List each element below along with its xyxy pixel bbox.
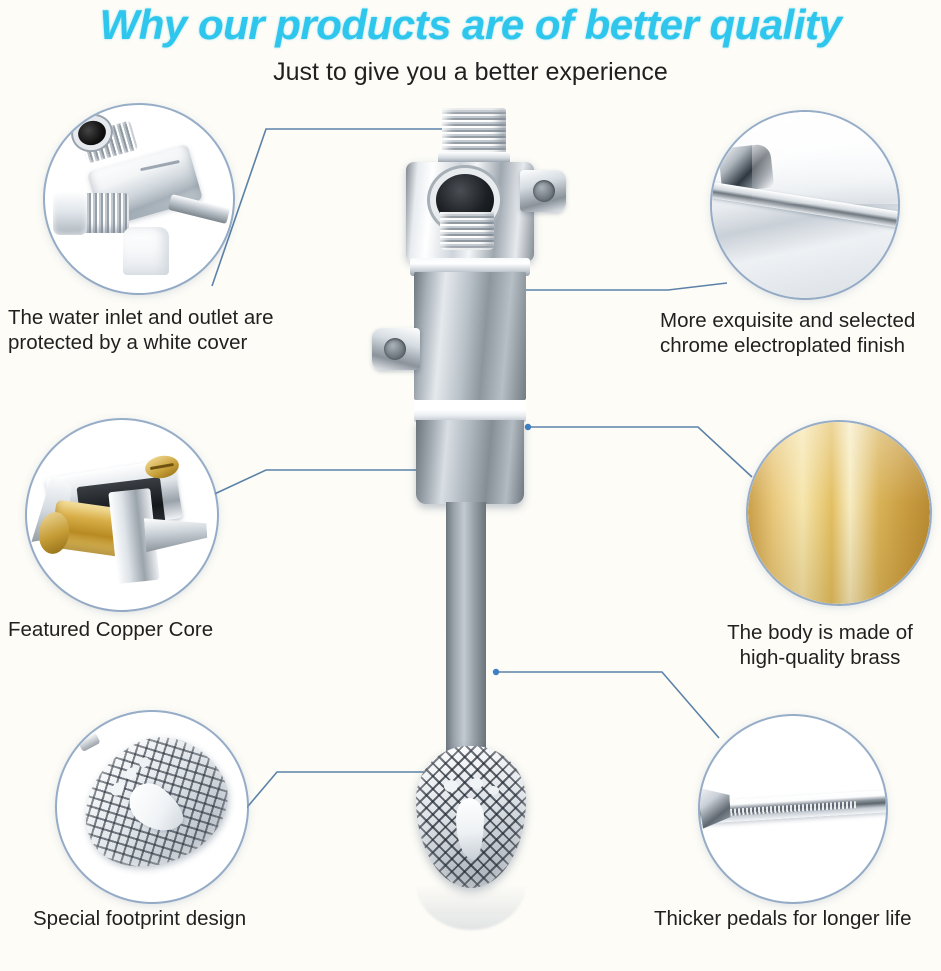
- white-protective-cover-shape: [123, 227, 169, 275]
- caption-line-2: chrome electroplated finish: [660, 333, 941, 358]
- footprint-toe-shape: [109, 780, 127, 799]
- feature-image-thicker-pedals: [700, 716, 886, 902]
- feature-caption-chrome-electroplated-finish: More exquisite and selected chrome elect…: [660, 308, 941, 358]
- core-right-wing-shape: [144, 514, 208, 552]
- footprint-toe-shape: [123, 765, 139, 781]
- feature-caption-featured-copper-core: Featured Copper Core: [8, 617, 308, 642]
- caption-line-1: More exquisite and selected: [660, 308, 941, 333]
- feature-caption-water-inlet-outlet: The water inlet and outlet are protected…: [8, 305, 308, 355]
- valve-side-cap-shape: [53, 191, 87, 235]
- caption-line-1: Special footprint design: [33, 906, 333, 931]
- page-title: Why our products are of better quality: [0, 2, 941, 48]
- top-threaded-outlet-shape: [442, 108, 506, 156]
- caption-line-1: Thicker pedals for longer life: [654, 906, 941, 931]
- mounting-ear-top-right-shape: [520, 170, 566, 212]
- feature-caption-special-footprint-design: Special footprint design: [33, 906, 333, 931]
- pedal-reflection-shape: [416, 884, 526, 930]
- pedal-stem-shape: [77, 732, 100, 752]
- feature-image-high-quality-brass-body: [748, 422, 930, 604]
- brass-sheen-shape: [748, 422, 930, 604]
- product-photo-foot-pedal-valve: [358, 108, 583, 908]
- mounting-ear-bottom-left-shape: [372, 328, 420, 370]
- caption-line-1: The body is made of: [700, 620, 940, 645]
- pedal-footprint-toe-shape: [444, 780, 458, 792]
- foot-pedal-shape: [416, 746, 526, 888]
- feature-caption-high-quality-brass-body: The body is made of high-quality brass: [700, 620, 940, 670]
- page-subtitle: Just to give you a better experience: [0, 57, 941, 87]
- infographic-canvas: Why our products are of better quality J…: [0, 0, 941, 971]
- chrome-gloss-shape: [752, 112, 898, 204]
- caption-line-1: Featured Copper Core: [8, 617, 308, 642]
- feature-image-chrome-electroplated-finish: [712, 112, 898, 298]
- footprint-sole-shape: [121, 775, 191, 842]
- pedal-footprint-sole-shape: [456, 798, 484, 860]
- pedal-footprint-toe-shape: [470, 778, 483, 789]
- pedal-arm-shape: [446, 502, 486, 772]
- pedal-footprint-toe-shape: [488, 786, 499, 795]
- footprint-toe-shape: [137, 755, 151, 769]
- caption-line-2: protected by a white cover: [8, 330, 308, 355]
- feature-image-special-footprint-design: [57, 712, 247, 902]
- valve-mid-body-shape: [414, 272, 526, 400]
- feature-image-featured-copper-core: [27, 420, 217, 610]
- body-band-shape: [414, 400, 526, 422]
- front-threaded-port-shape: [440, 212, 494, 250]
- caption-line-1: The water inlet and outlet are: [8, 305, 308, 330]
- lower-body-shape: [416, 420, 524, 504]
- feature-caption-thicker-pedals: Thicker pedals for longer life: [654, 906, 941, 931]
- feature-image-water-inlet-outlet: [45, 105, 233, 293]
- caption-line-2: high-quality brass: [700, 645, 940, 670]
